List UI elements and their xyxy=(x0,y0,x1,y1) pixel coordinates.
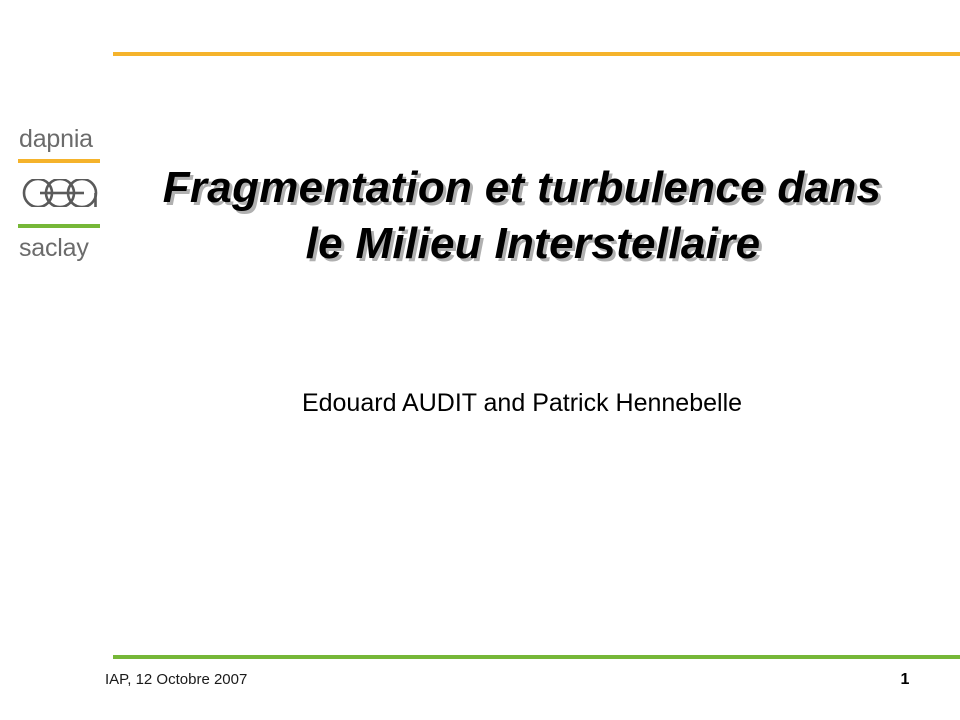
logo-orange-rule xyxy=(18,159,100,163)
footer-accent-rule xyxy=(113,655,960,659)
footer-date: IAP, 12 Octobre 2007 xyxy=(105,670,247,690)
cea-dapnia-saclay-logo: dapnia saclay xyxy=(18,124,102,263)
cea-logo-mark xyxy=(18,169,102,217)
logo-word-saclay: saclay xyxy=(18,233,102,263)
page-number: 1 xyxy=(890,670,920,690)
title-line-2: le Milieu Interstellaire xyxy=(108,216,936,272)
page-title: Fragmentation et turbulence dans le Mili… xyxy=(108,160,936,272)
logo-green-rule xyxy=(18,224,100,228)
logo-word-dapnia: dapnia xyxy=(18,124,102,154)
top-accent-rule xyxy=(113,52,960,56)
authors-line: Edouard AUDIT and Patrick Hennebelle xyxy=(108,388,936,418)
title-slide: dapnia saclay Fragmentation et turbulenc… xyxy=(0,0,960,720)
title-line-1: Fragmentation et turbulence dans xyxy=(108,160,936,216)
